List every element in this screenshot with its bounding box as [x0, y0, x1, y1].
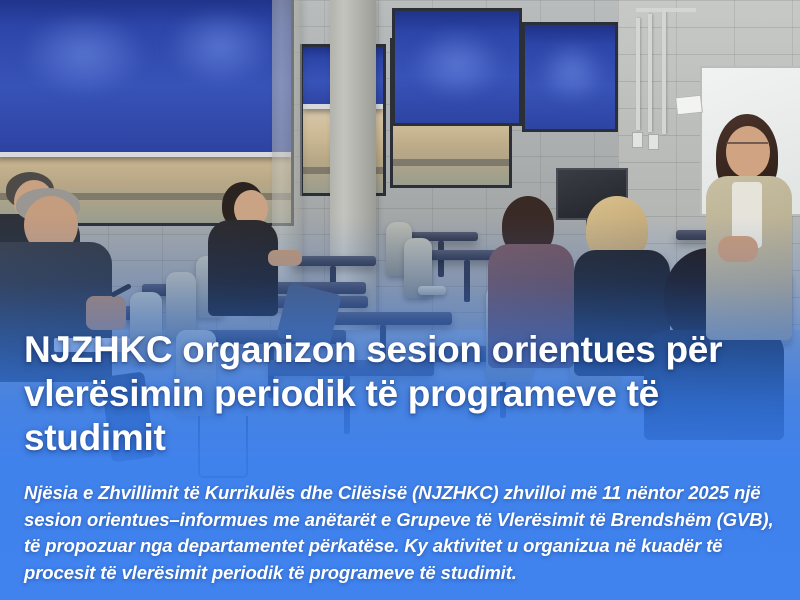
switch-box-1: [632, 132, 643, 148]
body-paragraph: Njësia e Zhvillimit të Kurrikulës dhe Ci…: [24, 480, 778, 586]
text-block: NJZHKC organizon sesion orientues për vl…: [0, 328, 800, 600]
conduit-pipe-1: [636, 18, 640, 130]
wall-sign: [675, 95, 703, 116]
conduit-pipe-3: [662, 10, 666, 134]
announcement-graphic: NJZHKC organizon sesion orientues për vl…: [0, 0, 800, 600]
headline: NJZHKC organizon sesion orientues për vl…: [24, 328, 776, 460]
blind-upper-right-b-glow: [537, 39, 607, 105]
wall-column: [330, 0, 376, 330]
man-front-hand: [86, 296, 126, 330]
presenter-hands: [718, 236, 758, 262]
blind-upper-right-a-glow: [409, 27, 505, 101]
chair-6-seat: [418, 286, 446, 295]
desk-mid-1: [292, 256, 376, 266]
switch-box-2: [648, 134, 659, 150]
presenter-head: [726, 126, 770, 178]
blind-left-glow: [19, 11, 149, 97]
woman-mid-hand: [268, 250, 302, 266]
window-upper-right-b: [522, 22, 618, 132]
presenter-glasses-icon: [726, 142, 768, 152]
desk-back-2-leg: [464, 260, 470, 302]
blind-left-glow-2: [165, 7, 275, 87]
woman-mid-body: [208, 220, 278, 316]
window-upper-right-a: [392, 8, 522, 126]
conduit-pipe-horizontal: [636, 8, 696, 12]
conduit-pipe-2: [648, 14, 652, 132]
